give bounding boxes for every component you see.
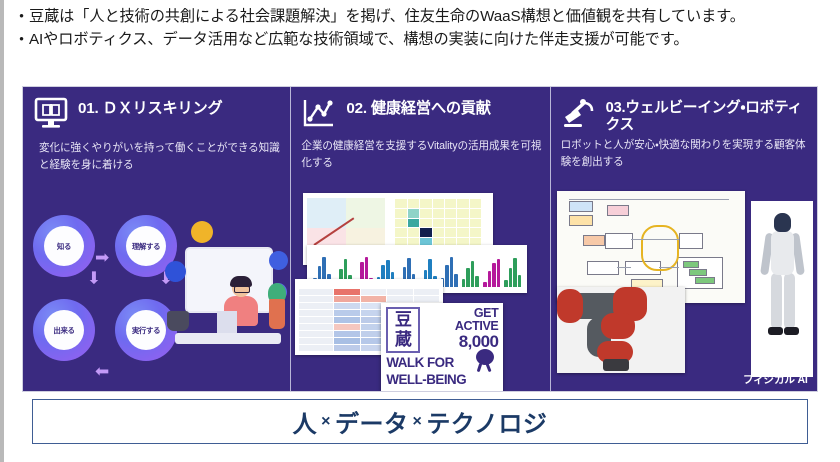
card-title-text: ウェルビーイング・ロボティクス [606,100,802,133]
walking-mascot-icon [472,347,498,373]
plant-pot-icon [269,299,285,329]
card-header: 01. ＤＸリスキリング 変化に強くやりがいを持って働くことができる知識と経験を… [23,87,290,174]
diagram-box [683,261,699,268]
book-monitor-icon [33,97,71,131]
cycle-node: 出来る [33,299,95,361]
cycle-node: 知る [33,215,95,277]
diagram-box [569,201,593,212]
vitality-dashboard-illustration: 豆蔵 GET ACTIVE 8,000 WALK FOR WELL-BEING [291,193,549,391]
chat-bubble-icon [269,251,288,270]
robot-segment [557,289,583,323]
robot-leg-right [784,273,795,329]
robot-foot-right [784,327,799,335]
histogram [483,257,500,287]
bullet-marker-icon: • [14,6,29,26]
bullet-item: • 豆蔵は「人と技術の共創による社会課題解決」を掲げ、住友生命のWaaS構想と価… [14,6,832,28]
robotics-illustration: フィジカル AI [551,191,817,391]
video-bubble-icon [165,261,186,282]
card-health-management: 02. 健康経営への貢献 企業の健康経営を支援するVitalityの活用成果を可… [291,87,549,391]
diagram-box [695,277,715,284]
diagram-box [569,215,593,226]
mascot-leg [486,363,492,372]
card-number: 01. [78,100,99,117]
cycle-node-label: 実行する [126,310,166,350]
diagram-box [679,233,703,249]
card-description: ロボットと人が安心・快適な関わりを実現する顧客体験を創出する [561,137,809,171]
three-pillar-panel: 01. ＤＸリスキリング 変化に強くやりがいを持って働くことができる知識と経験を… [22,86,818,392]
diagram-line [569,199,729,200]
diagram-line [659,267,679,268]
robot-arm-photo [557,287,685,373]
humanoid-robot-photo [751,201,813,377]
cycle-node-label: 出来る [44,310,84,350]
tagline-banner: 人 × データ × テクノロジ [32,399,808,444]
mamezou-logo: 豆蔵 [386,307,420,353]
card-title-text: ＤＸリスキリング [103,100,223,117]
diagram-line [617,267,631,268]
elearning-laptop-illustration [173,225,285,365]
person-glasses [234,286,250,293]
card-title-text: 健康経営への貢献 [371,100,491,117]
card-header: 03.ウェルビーイング・ロボティクス ロボットと人が安心・快適な関わりを実現する… [551,87,817,172]
diagram-box [587,261,619,275]
bullet-text: 豆蔵は「人と技術の共創による社会課題解決」を掲げ、住友生命のWaaS構想と価値観… [29,6,832,28]
laptop-stand [217,311,237,333]
mascot-leg [477,363,483,372]
card-description: 企業の健康経営を支援するVitalityの活用成果を可視化する [301,138,541,172]
reskilling-illustration: 知る 理解する 出来る 実行する ➡ ➡ ➡ ➡ [23,205,290,391]
bullet-item: • AIやロボティクス、データ活用など広範な技術領域で、構想の実装に向けた伴走支… [14,29,832,51]
robot-foot-left [768,327,783,335]
learning-cycle-diagram: 知る 理解する 出来る 実行する ➡ ➡ ➡ ➡ [31,213,181,373]
bullet-list: • 豆蔵は「人と技術の共創による社会課題解決」を掲げ、住友生命のWaaS構想と価… [14,6,832,51]
bullet-text: AIやロボティクス、データ活用など広範な技術領域で、構想の実装に向けた伴走支援が… [29,29,832,51]
card-number: 03. [606,100,626,116]
quadrant-cell [307,198,346,228]
diagram-box [605,233,633,249]
cycle-arrow-icon: ➡ [95,363,109,380]
card-description: 変化に強くやりがいを持って働くことができる知識と経験を身に着ける [39,140,282,174]
line-chart-icon [301,97,339,131]
cycle-node-label: 知る [44,226,84,266]
laptop-keyboard [175,333,281,344]
cycle-node-label: 理解する [126,226,166,266]
quadrant-cell [346,198,385,228]
cycle-node: 実行する [115,299,177,361]
chart-bubble-icon [191,221,213,243]
tagline-part-data: データ [335,404,409,439]
tagline-part-technology: テクノロジ [426,404,547,439]
robot-torso [771,231,794,275]
slide: • 豆蔵は「人と技術の共創による社会課題解決」を掲げ、住友生命のWaaS構想と価… [0,0,840,462]
card-title: 01. ＤＸリスキリング [78,97,222,117]
robot-segment [601,313,635,339]
cycle-arrow-icon: ➡ [95,249,109,266]
tagline-separator: × [408,413,426,431]
physical-ai-caption: フィジカル AI [743,372,808,387]
diagram-line [631,239,679,240]
card-wellbeing-robotics: 03.ウェルビーイング・ロボティクス ロボットと人が安心・快適な関わりを実現する… [551,87,817,391]
card-title: 02. 健康経営への貢献 [346,97,490,117]
card-dx-reskilling: 01. ＤＸリスキリング 変化に強くやりがいを持って働くことができる知識と経験を… [23,87,290,391]
robot-head [774,213,791,232]
robot-arm-icon [561,97,599,131]
diagram-capsule [641,225,679,271]
card-number: 02. [346,100,367,117]
left-edge-bar [0,0,4,462]
cycle-arrow-icon: ➡ [86,270,103,284]
laptop-screen [185,247,273,313]
diagram-box [583,235,605,246]
robot-leg-left [771,273,782,329]
card-title: 03.ウェルビーイング・ロボティクス [606,97,809,133]
diagram-box [607,205,629,216]
tagline-separator: × [317,413,335,431]
get-active-poster: 豆蔵 GET ACTIVE 8,000 WALK FOR WELL-BEING [381,303,503,391]
card-header: 02. 健康経営への貢献 企業の健康経営を支援するVitalityの活用成果を可… [291,87,549,172]
diagram-box [689,269,707,276]
bullet-marker-icon: • [14,29,29,49]
robot-base [603,359,629,371]
histogram [462,257,479,287]
tagline-part-people: 人 [293,404,318,439]
histogram [504,257,521,287]
coffee-mug-icon [167,311,189,331]
